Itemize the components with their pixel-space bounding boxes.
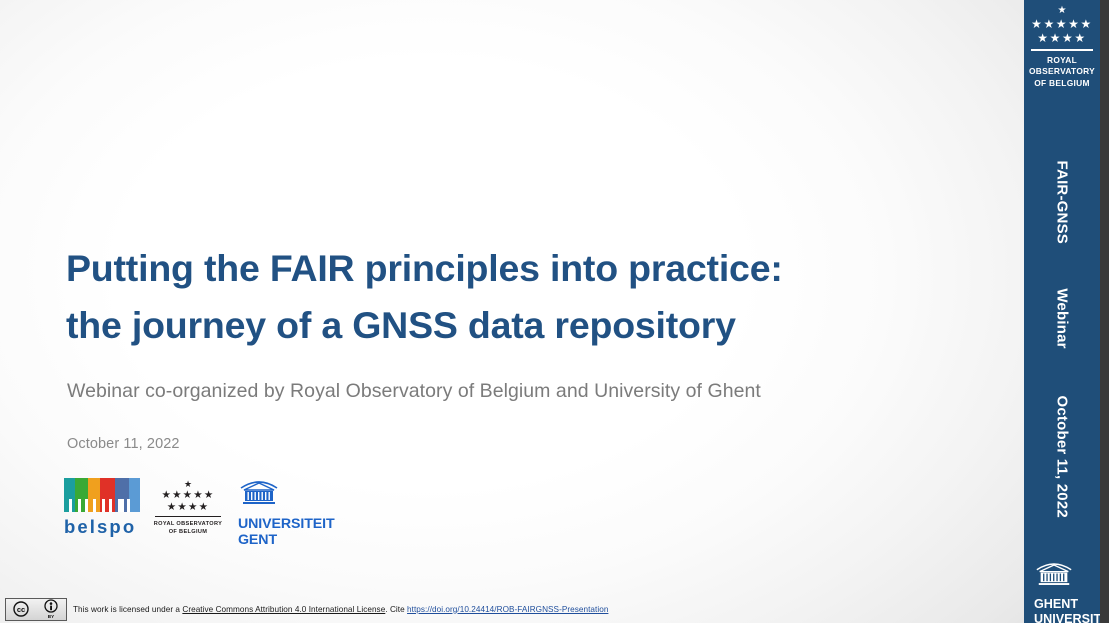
presentation-slide: Putting the FAIR principles into practic…	[0, 0, 1109, 623]
sidebar-ugent-building-icon	[1034, 560, 1109, 594]
rob-stars-row-2: ★★★★★	[152, 490, 224, 501]
rob-stars: ★ ★★★★★ ★★★★	[152, 480, 224, 512]
svg-text:cc: cc	[17, 605, 25, 614]
license-link[interactable]: Creative Commons Attribution 4.0 Interna…	[182, 605, 385, 614]
slide-main-content: Putting the FAIR principles into practic…	[0, 0, 1024, 623]
svg-text:BY: BY	[48, 614, 54, 619]
belspo-wordmark: belspo	[64, 518, 140, 537]
sidebar-label-project: FAIR-GNSS	[1054, 161, 1071, 237]
cc-icon: cc	[13, 601, 29, 617]
license-bar: cc BY This work is licensed under a Crea…	[0, 595, 1024, 623]
sidebar-rob-stars-row-3: ★★★★	[1024, 32, 1100, 44]
belspo-logo: belspo	[64, 478, 140, 538]
slide-subtitle: Webinar co-organized by Royal Observator…	[67, 380, 937, 403]
sidebar-rob-stars-row-1: ★	[1024, 6, 1100, 16]
sidebar-ghent-university-logo: GHENT UNIVERSITY	[1034, 560, 1109, 623]
ugent-building-icon	[238, 478, 330, 513]
rob-logo-name: ROYAL OBSERVATORY OF BELGIUM	[152, 520, 224, 536]
royal-observatory-logo: ★ ★★★★★ ★★★★ ROYAL OBSERVATORY OF BELGIU…	[152, 480, 224, 538]
page-title: Putting the FAIR principles into practic…	[66, 240, 926, 354]
slide-right-edge	[1100, 0, 1109, 623]
slide-date: October 11, 2022	[67, 436, 180, 452]
rob-stars-row-3: ★★★★	[152, 502, 224, 513]
ugent-logo: UNIVERSITEIT GENT	[238, 478, 330, 538]
sidebar-royal-observatory-logo: ★ ★★★★★ ★★★★ ROYAL OBSERVATORY OF BELGIU…	[1024, 6, 1100, 90]
ugent-logo-name: UNIVERSITEIT GENT	[238, 517, 330, 549]
sidebar-rob-stars-row-2: ★★★★★	[1024, 18, 1100, 30]
sidebar-rob-divider	[1031, 49, 1093, 51]
license-text: This work is licensed under a Creative C…	[73, 605, 608, 614]
belspo-barcode-icon	[64, 478, 140, 512]
creative-commons-badge[interactable]: cc BY	[5, 598, 67, 621]
rob-divider	[155, 516, 221, 517]
license-prefix: This work is licensed under a	[73, 605, 182, 614]
sidebar-label-event: Webinar	[1054, 281, 1071, 357]
license-cite-label: . Cite	[385, 605, 407, 614]
sidebar-label-date: October 11, 2022	[1054, 396, 1071, 472]
sidebar-ugent-name: GHENT UNIVERSITY	[1034, 597, 1109, 623]
sidebar-rob-stars: ★ ★★★★★ ★★★★	[1024, 6, 1100, 44]
right-sidebar: ★ ★★★★★ ★★★★ ROYAL OBSERVATORY OF BELGIU…	[1024, 0, 1109, 623]
by-person-icon: BY	[43, 599, 59, 619]
doi-link[interactable]: https://doi.org/10.24414/ROB-FAIRGNSS-Pr…	[407, 605, 608, 614]
logo-row: belspo ★ ★★★★★ ★★★★ ROYAL OBSERVATORY OF…	[64, 476, 330, 538]
rob-stars-row-1: ★	[152, 480, 224, 489]
sidebar-rob-name: ROYAL OBSERVATORY OF BELGIUM	[1024, 55, 1100, 91]
